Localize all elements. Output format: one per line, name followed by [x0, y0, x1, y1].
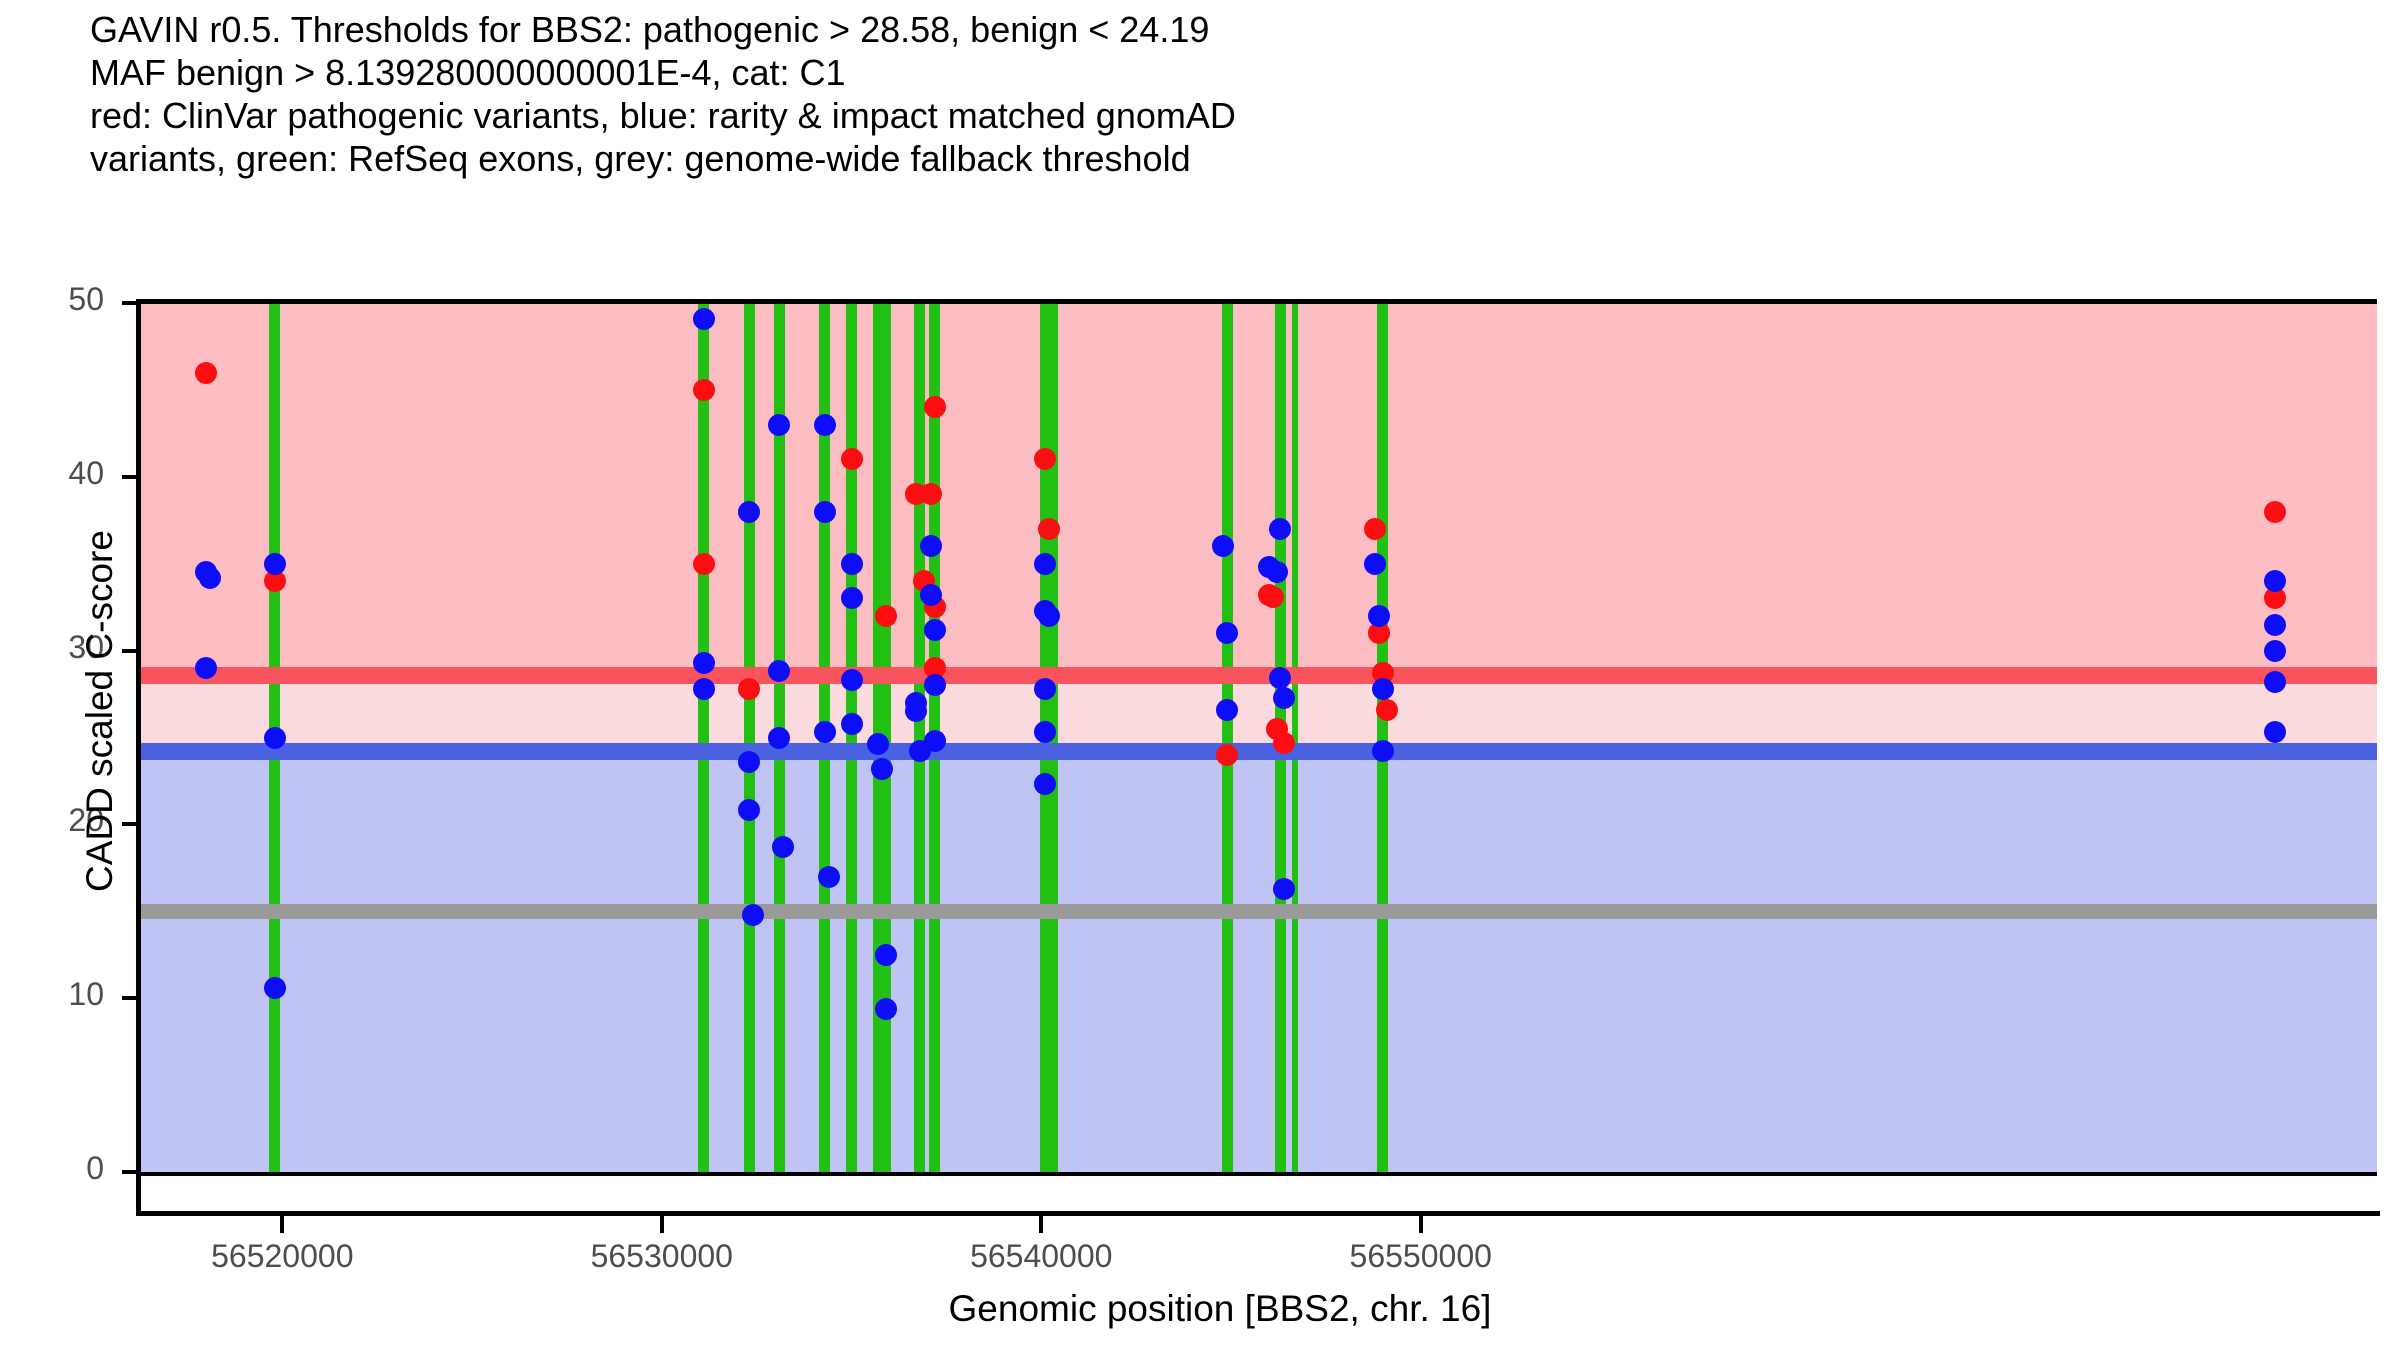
gnomad-variant-point: [920, 584, 942, 606]
gnomad-variant-point: [1034, 678, 1056, 700]
gnomad-variant-point: [264, 727, 286, 749]
exon-marker: [1377, 303, 1388, 1172]
y-tick-mark: [122, 1170, 136, 1174]
panel-top-border: [140, 299, 2377, 304]
chart-title-block: GAVIN r0.5. Thresholds for BBS2: pathoge…: [90, 8, 2370, 180]
gnomad-variant-point: [1273, 878, 1295, 900]
gnomad-variant-point: [693, 678, 715, 700]
benign-threshold-line: [140, 743, 2377, 760]
gnomad-variant-point: [1368, 605, 1390, 627]
x-tick-label: 56520000: [132, 1238, 432, 1275]
x-axis-label: Genomic position [BBS2, chr. 16]: [600, 1288, 1840, 1330]
y-tick-label: 0: [0, 1150, 104, 1187]
gnomad-variant-point: [1038, 605, 1060, 627]
x-tick-mark: [660, 1216, 664, 1233]
title-line-2: MAF benign > 8.139280000000001E-4, cat: …: [90, 51, 2370, 94]
pathogenic-variant-point: [1262, 586, 1284, 608]
gnomad-variant-point: [738, 751, 760, 773]
y-tick-mark: [122, 996, 136, 1000]
x-tick-label: 56550000: [1271, 1238, 1571, 1275]
gnomad-variant-point: [924, 619, 946, 641]
gnomad-variant-point: [768, 414, 790, 436]
gnomad-variant-point: [693, 308, 715, 330]
gnomad-variant-point: [1372, 678, 1394, 700]
y-axis-label: CADD scaled C-score: [79, 311, 121, 1111]
y-tick-mark: [122, 822, 136, 826]
gnomad-variant-point: [841, 587, 863, 609]
pathogenic-variant-point: [841, 448, 863, 470]
gnomad-variant-point: [875, 998, 897, 1020]
exon-marker: [744, 303, 755, 1172]
gnomad-variant-point: [264, 553, 286, 575]
gnomad-variant-point: [2264, 721, 2286, 743]
pathogenic-variant-point: [738, 678, 760, 700]
vus-region-band: [140, 675, 2377, 751]
plot-panel: [140, 303, 2377, 1172]
y-tick-mark: [122, 649, 136, 653]
x-tick-mark: [1419, 1216, 1423, 1233]
exon-marker: [698, 303, 709, 1172]
pathogenic-threshold-line: [140, 667, 2377, 684]
gnomad-variant-point: [818, 866, 840, 888]
gnomad-variant-point: [871, 758, 893, 780]
gnomad-variant-point: [875, 944, 897, 966]
gnomad-variant-point: [1216, 699, 1238, 721]
gnomad-variant-point: [1372, 740, 1394, 762]
gnomad-variant-point: [199, 567, 221, 589]
pathogenic-variant-point: [693, 553, 715, 575]
x-tick-mark: [1039, 1216, 1043, 1233]
gnomad-variant-point: [768, 727, 790, 749]
title-line-4: variants, green: RefSeq exons, grey: gen…: [90, 137, 2370, 180]
pathogenic-variant-point: [2264, 501, 2286, 523]
gnomad-variant-point: [1034, 553, 1056, 575]
pathogenic-region-band: [140, 303, 2377, 675]
exon-marker: [1222, 303, 1233, 1172]
gnomad-variant-point: [841, 713, 863, 735]
gnomad-variant-point: [841, 669, 863, 691]
benign-region-band: [140, 752, 2377, 1172]
pathogenic-variant-point: [1376, 699, 1398, 721]
pathogenic-variant-point: [1273, 732, 1295, 754]
pathogenic-variant-point: [693, 379, 715, 401]
gnomad-variant-point: [1364, 553, 1386, 575]
exon-marker: [846, 303, 857, 1172]
gnomad-variant-point: [1273, 687, 1295, 709]
gnomad-variant-point: [924, 730, 946, 752]
y-tick-mark: [122, 475, 136, 479]
x-tick-label: 56530000: [512, 1238, 812, 1275]
y-axis-line: [136, 299, 141, 1216]
x-axis-line: [140, 1211, 2380, 1216]
gnomad-variant-point: [2264, 640, 2286, 662]
pathogenic-variant-point: [195, 362, 217, 384]
x-tick-mark: [280, 1216, 284, 1233]
gnomad-variant-point: [693, 652, 715, 674]
title-line-1: GAVIN r0.5. Thresholds for BBS2: pathoge…: [90, 8, 2370, 51]
title-line-3: red: ClinVar pathogenic variants, blue: …: [90, 94, 2370, 137]
gnomad-variant-point: [264, 977, 286, 999]
pathogenic-variant-point: [1364, 518, 1386, 540]
gnomad-variant-point: [814, 414, 836, 436]
gnomad-variant-point: [2264, 671, 2286, 693]
pathogenic-variant-point: [1216, 744, 1238, 766]
x-tick-label: 56540000: [891, 1238, 1191, 1275]
chart-root: GAVIN r0.5. Thresholds for BBS2: pathoge…: [0, 0, 2400, 1350]
gnomad-variant-point: [738, 501, 760, 523]
gnomad-variant-point: [742, 904, 764, 926]
panel-bottom-border: [140, 1172, 2377, 1176]
gnomad-variant-point: [814, 501, 836, 523]
gnomad-variant-point: [1266, 561, 1288, 583]
pathogenic-variant-point: [875, 605, 897, 627]
gnomad-variant-point: [2264, 570, 2286, 592]
fallback-threshold-line: [140, 904, 2377, 919]
y-tick-mark: [122, 301, 136, 305]
pathogenic-variant-point: [1038, 518, 1060, 540]
gnomad-variant-point: [2264, 614, 2286, 636]
gnomad-variant-point: [841, 553, 863, 575]
